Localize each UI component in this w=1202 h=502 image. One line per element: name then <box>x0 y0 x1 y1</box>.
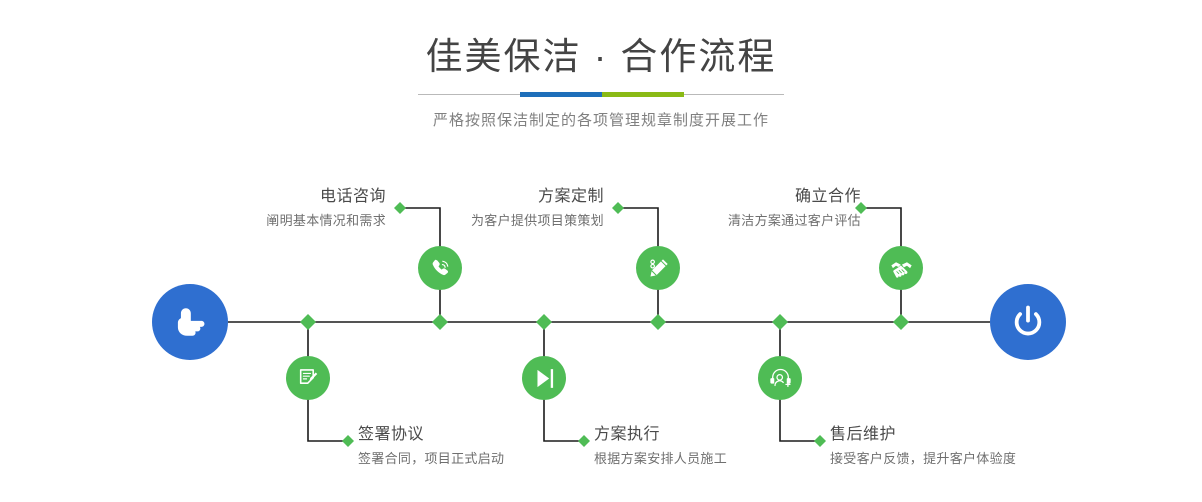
sign-document-icon <box>296 366 321 391</box>
step-icon-establish-cooperation[interactable] <box>879 246 923 290</box>
step-icon-after-sales[interactable] <box>758 356 802 400</box>
pointing-hand-icon <box>168 300 212 344</box>
phone-call-icon <box>428 256 453 281</box>
timeline-diamond <box>893 314 909 330</box>
step-desc: 接受客户反馈，提升客户体验度 <box>830 450 1016 468</box>
step-label-after-sales: 售后维护 接受客户反馈，提升客户体验度 <box>830 424 1016 467</box>
step-label-plan-execution: 方案执行 根据方案安排人员施工 <box>594 424 727 467</box>
step-title: 确立合作 <box>728 186 861 208</box>
label-diamonds <box>342 202 867 447</box>
step-title: 方案执行 <box>594 424 727 446</box>
flow-start-node[interactable] <box>152 284 228 360</box>
timeline-diamond <box>300 314 316 330</box>
step-desc: 阐明基本情况和需求 <box>266 212 386 230</box>
timeline-diamond <box>432 314 448 330</box>
step-title: 电话咨询 <box>266 186 386 208</box>
customer-service-icon <box>768 366 793 391</box>
step-title: 售后维护 <box>830 424 1016 446</box>
step-icon-plan-customization[interactable] <box>636 246 680 290</box>
step-title: 签署协议 <box>358 424 504 446</box>
step-title: 方案定制 <box>471 186 604 208</box>
label-diamond <box>394 202 406 214</box>
step-icon-phone-consultation[interactable] <box>418 246 462 290</box>
step-desc: 根据方案安排人员施工 <box>594 450 727 468</box>
timeline-diamond <box>536 314 552 330</box>
timeline-diamond <box>650 314 666 330</box>
process-flow-diagram: 电话咨询 阐明基本情况和需求 签署协议 签署合同，项目正式启动 <box>0 0 1202 502</box>
timeline-diamond <box>772 314 788 330</box>
label-diamond <box>814 435 826 447</box>
flow-chart-page: 佳美保洁 · 合作流程 严格按照保洁制定的各项管理规章制度开展工作 <box>0 0 1202 502</box>
step-desc: 为客户提供项目策策划 <box>471 212 604 230</box>
step-icon-sign-agreement[interactable] <box>286 356 330 400</box>
flow-end-node[interactable] <box>990 284 1066 360</box>
step-desc: 签署合同，项目正式启动 <box>358 450 504 468</box>
label-diamond <box>342 435 354 447</box>
step-label-phone-consultation: 电话咨询 阐明基本情况和需求 <box>266 186 386 229</box>
step-icon-plan-execution[interactable] <box>522 356 566 400</box>
play-execute-icon <box>532 366 557 391</box>
step-label-sign-agreement: 签署协议 签署合同，项目正式启动 <box>358 424 504 467</box>
pencil-edit-icon <box>646 256 671 281</box>
handshake-icon <box>889 256 914 281</box>
step-label-establish-cooperation: 确立合作 清洁方案通过客户评估 <box>728 186 861 229</box>
step-label-plan-customization: 方案定制 为客户提供项目策策划 <box>471 186 604 229</box>
step-desc: 清洁方案通过客户评估 <box>728 212 861 230</box>
power-icon <box>1006 300 1050 344</box>
label-diamond <box>578 435 590 447</box>
label-diamond <box>612 202 624 214</box>
